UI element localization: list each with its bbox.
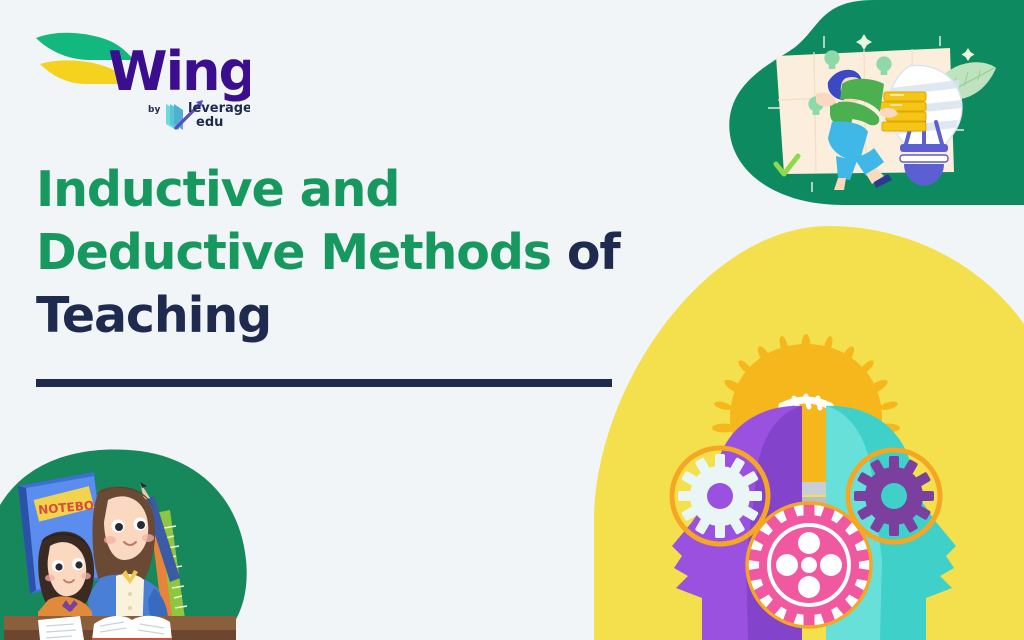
title-line-3: Teaching: [36, 284, 616, 347]
logo-by-label: by: [148, 105, 160, 115]
wings-wordmark: Wings: [108, 40, 250, 103]
title-line-1: Inductive and: [36, 158, 616, 221]
title-line-2: Deductive Methods of: [36, 221, 616, 284]
leverage-label: leverage: [188, 101, 250, 116]
wings-logo[interactable]: Wings by leverage edu: [30, 24, 250, 132]
page-title: Inductive and Deductive Methods of Teach…: [36, 158, 616, 347]
illustration-two-heads-gears: [596, 310, 1016, 640]
banner-root: Wings by leverage edu Inductive and Dedu…: [0, 0, 1024, 640]
title-line-2-navy: of: [567, 224, 620, 281]
illustration-teacher-and-student: NOTEBOOK: [4, 460, 236, 640]
wings-logo-svg: Wings by leverage edu: [30, 24, 250, 132]
title-divider-rule: [36, 379, 612, 387]
right-gear-icon: [848, 450, 940, 542]
paper-icon: [38, 616, 84, 640]
title-line-2-green: Deductive Methods: [36, 224, 567, 281]
illustration-woman-with-ideas: [754, 22, 1014, 197]
edu-label: edu: [196, 115, 223, 130]
left-gear-icon: [672, 448, 768, 544]
center-gear-icon: [747, 503, 871, 627]
